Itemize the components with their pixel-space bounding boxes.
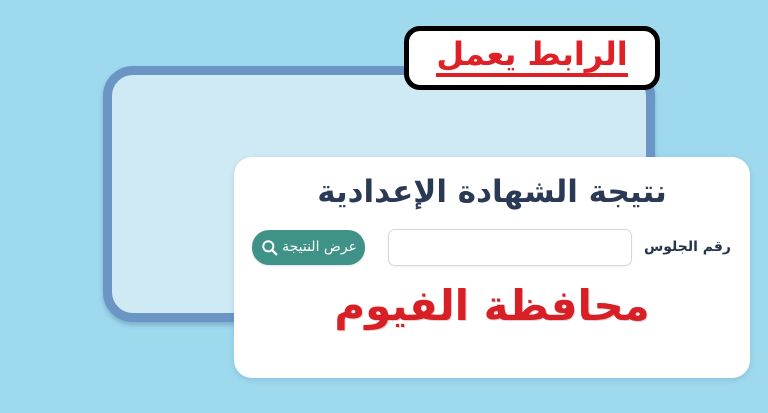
search-icon (260, 238, 279, 257)
view-result-button[interactable]: عرض النتيجة (252, 230, 365, 265)
result-frame: نتيجة الشهادة الإعدادية رقم الجلوس عرض ا… (103, 66, 655, 322)
governorate-heading: محافظة الفيوم (234, 283, 750, 329)
page-root: نتيجة الشهادة الإعدادية رقم الجلوس عرض ا… (0, 0, 768, 413)
link-status-badge[interactable]: الرابط يعمل (404, 26, 660, 90)
result-card: نتيجة الشهادة الإعدادية رقم الجلوس عرض ا… (234, 157, 750, 378)
link-status-badge-label: الرابط يعمل (436, 38, 627, 77)
seat-number-label: رقم الجلوس (644, 239, 731, 255)
seat-number-input[interactable] (388, 229, 632, 266)
view-result-button-label: عرض النتيجة (282, 240, 357, 256)
page-title: نتيجة الشهادة الإعدادية (234, 175, 750, 209)
seat-number-form: رقم الجلوس عرض النتيجة (234, 229, 750, 271)
